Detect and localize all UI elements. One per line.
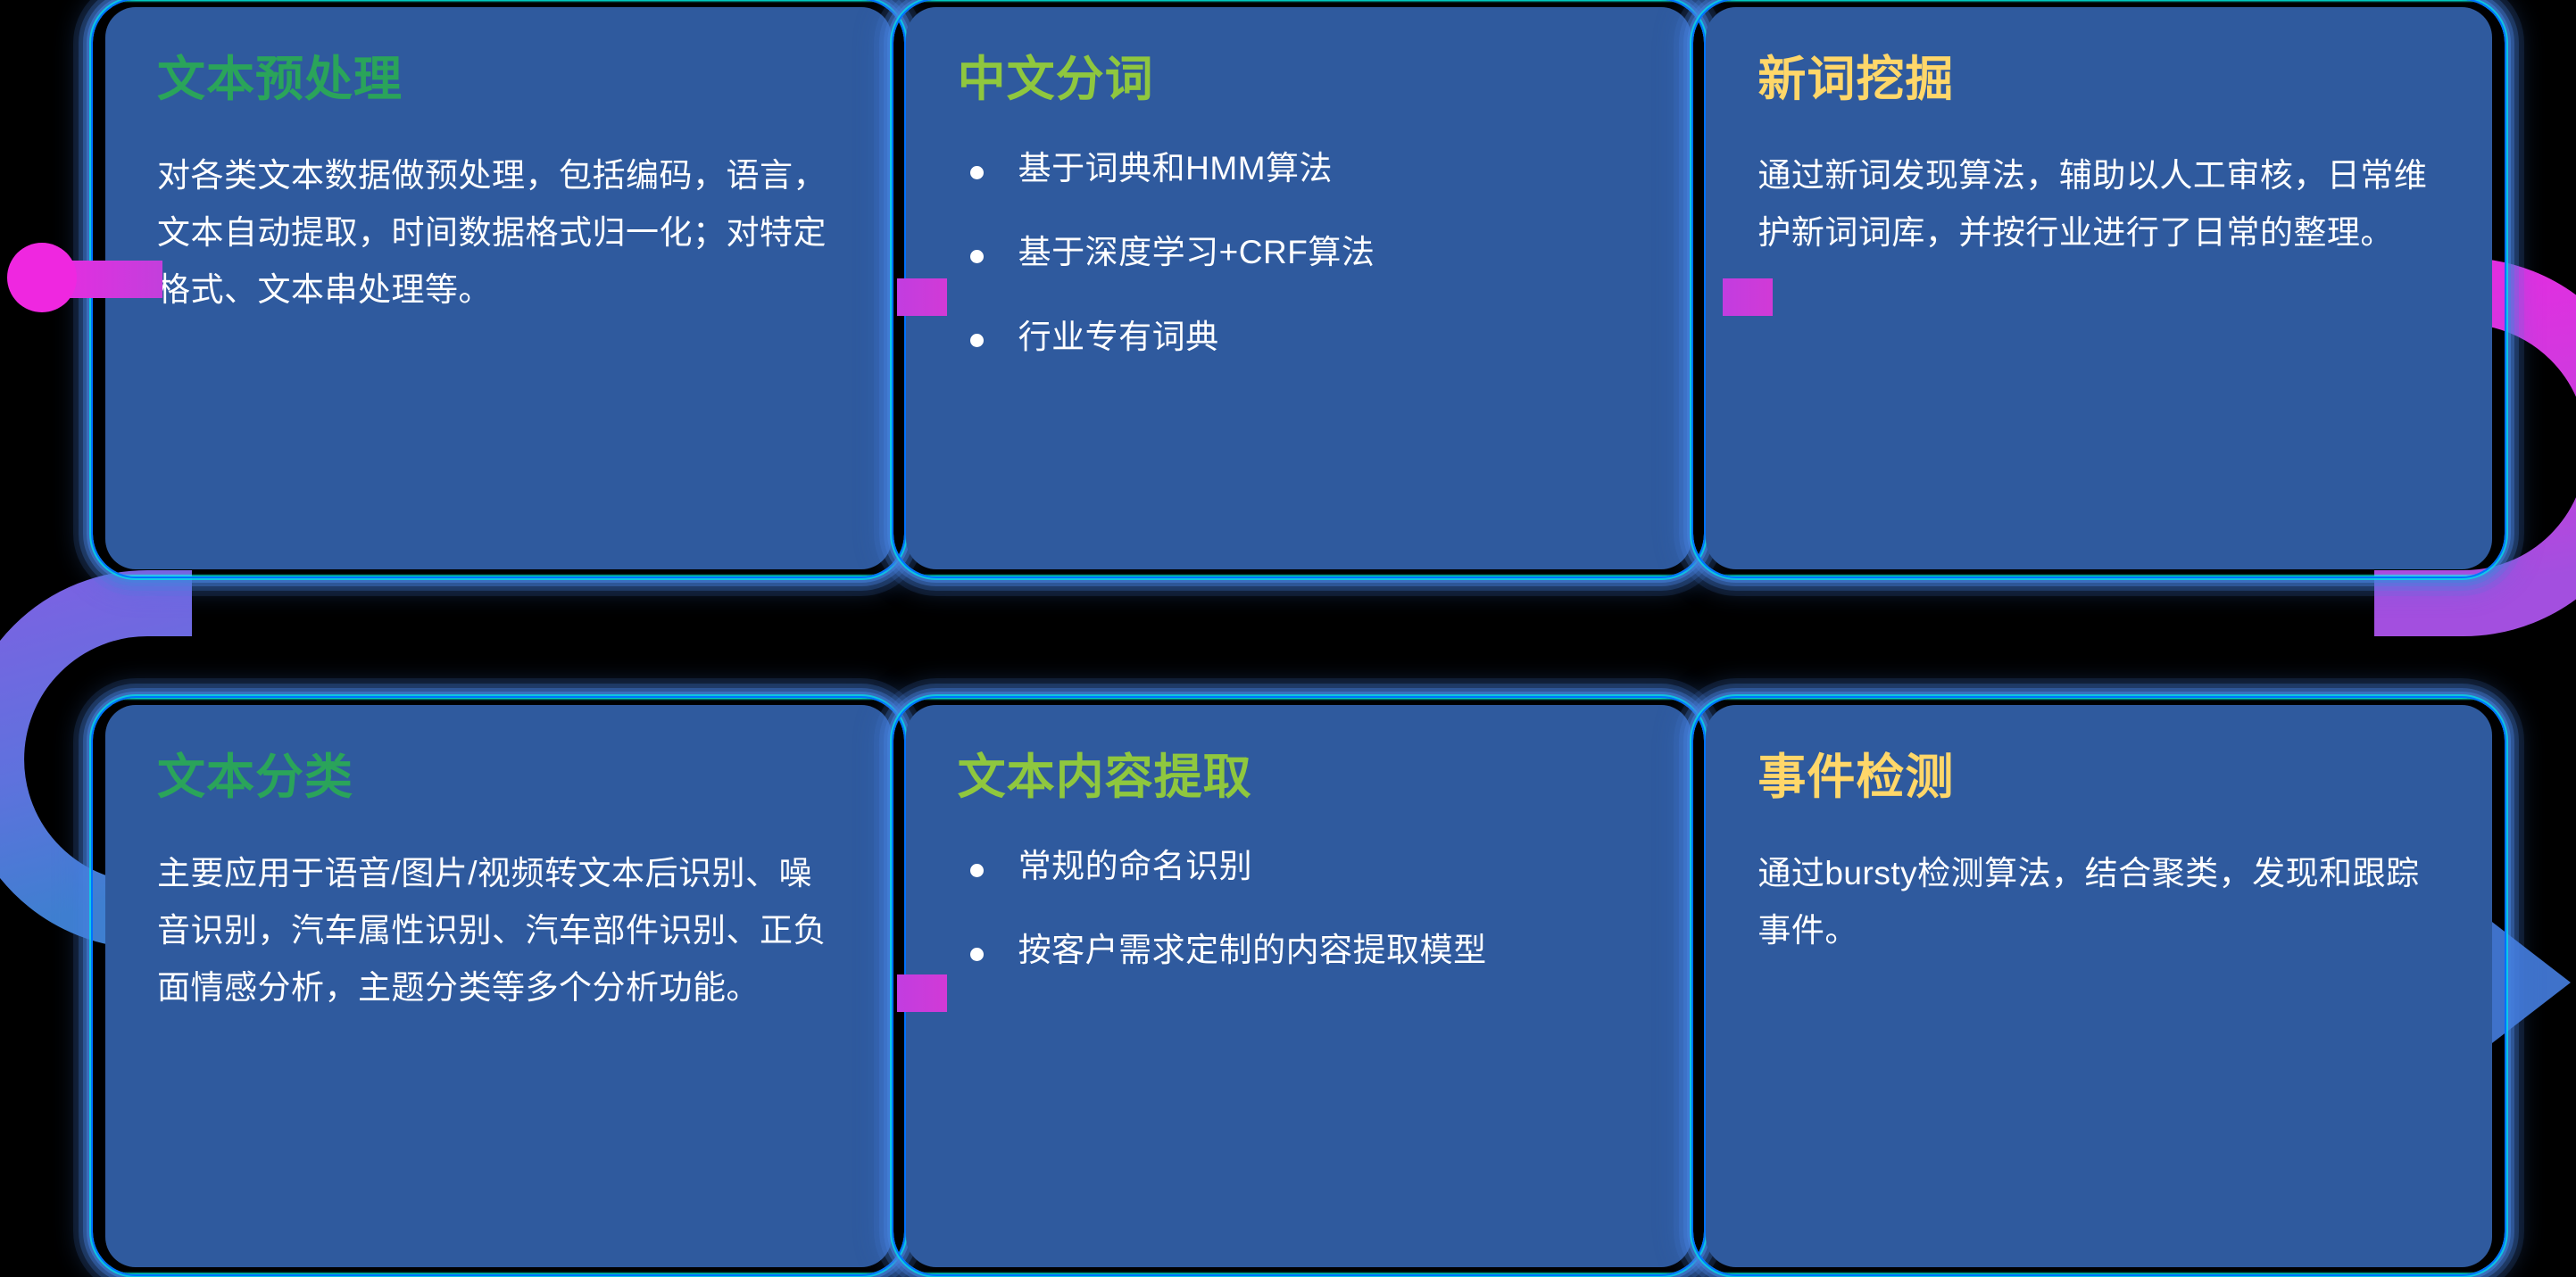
start-stub [64, 261, 162, 298]
card-title: 文本分类 [157, 751, 840, 804]
card-title: 中文分词 [958, 54, 1641, 106]
list-item: 基于词典和HMM算法 [958, 147, 1641, 190]
card-text-preprocessing[interactable]: 文本预处理 对各类文本数据做预处理，包括编码，语言，文本自动提取，时间数据格式归… [105, 7, 892, 569]
bullet-dot-icon [970, 948, 984, 961]
bottom-row: 文本分类 主要应用于语音/图片/视频转文本后识别、噪音识别，汽车属性识别、汽车部… [98, 705, 2499, 1267]
card-event-detection[interactable]: 事件检测 通过bursty检测算法，结合聚类，发现和跟踪事件。 [1706, 705, 2492, 1267]
list-item-label: 行业专有词典 [1018, 319, 1219, 355]
start-dot [7, 243, 77, 312]
diagram-canvas: 文本预处理 对各类文本数据做预处理，包括编码，语言，文本自动提取，时间数据格式归… [0, 0, 2576, 1277]
connector-chip-1 [897, 278, 947, 316]
card-title: 文本预处理 [157, 54, 840, 106]
card-chinese-word-segmentation[interactable]: 中文分词 基于词典和HMM算法 基于深度学习+CRF算法 行业专有词典 [906, 7, 1692, 569]
card-text-classification[interactable]: 文本分类 主要应用于语音/图片/视频转文本后识别、噪音识别，汽车属性识别、汽车部… [105, 705, 892, 1267]
card-title: 文本内容提取 [958, 751, 1641, 804]
card-paragraph: 通过bursty检测算法，结合聚类，发现和跟踪事件。 [1757, 845, 2440, 958]
card-new-word-discovery[interactable]: 新词挖掘 通过新词发现算法，辅助以人工审核，日常维护新词词库，并按行业进行了日常… [1706, 7, 2492, 569]
card-surface: 事件检测 通过bursty检测算法，结合聚类，发现和跟踪事件。 [1706, 705, 2492, 1267]
card-paragraph: 通过新词发现算法，辅助以人工审核，日常维护新词词库，并按行业进行了日常的整理。 [1757, 147, 2440, 261]
card-title: 事件检测 [1757, 751, 2440, 804]
list-item-label: 常规的命名识别 [1018, 848, 1253, 884]
list-item: 常规的命名识别 [958, 845, 1641, 888]
card-surface: 新词挖掘 通过新词发现算法，辅助以人工审核，日常维护新词词库，并按行业进行了日常… [1706, 7, 2492, 569]
card-surface: 文本预处理 对各类文本数据做预处理，包括编码，语言，文本自动提取，时间数据格式归… [105, 7, 892, 569]
card-title: 新词挖掘 [1757, 54, 2440, 106]
bullet-dot-icon [970, 334, 984, 347]
list-item-label: 按客户需求定制的内容提取模型 [1018, 932, 1487, 968]
list-item-label: 基于词典和HMM算法 [1018, 150, 1333, 187]
card-bullet-list: 基于词典和HMM算法 基于深度学习+CRF算法 行业专有词典 [958, 147, 1641, 358]
list-item-label: 基于深度学习+CRF算法 [1018, 234, 1375, 270]
card-text-content-extraction[interactable]: 文本内容提取 常规的命名识别 按客户需求定制的内容提取模型 [906, 705, 1692, 1267]
card-paragraph: 对各类文本数据做预处理，包括编码，语言，文本自动提取，时间数据格式归一化；对特定… [157, 147, 840, 318]
card-bullet-list: 常规的命名识别 按客户需求定制的内容提取模型 [958, 845, 1641, 972]
bullet-dot-icon [970, 166, 984, 179]
card-paragraph: 主要应用于语音/图片/视频转文本后识别、噪音识别，汽车属性识别、汽车部件识别、正… [157, 845, 840, 1016]
card-surface: 中文分词 基于词典和HMM算法 基于深度学习+CRF算法 行业专有词典 [906, 7, 1692, 569]
top-row: 文本预处理 对各类文本数据做预处理，包括编码，语言，文本自动提取，时间数据格式归… [98, 7, 2499, 569]
list-item: 按客户需求定制的内容提取模型 [958, 929, 1641, 972]
bullet-dot-icon [970, 250, 984, 263]
connector-chip-2 [1723, 278, 1773, 316]
list-item: 基于深度学习+CRF算法 [958, 231, 1641, 274]
card-surface: 文本分类 主要应用于语音/图片/视频转文本后识别、噪音识别，汽车属性识别、汽车部… [105, 705, 892, 1267]
card-surface: 文本内容提取 常规的命名识别 按客户需求定制的内容提取模型 [906, 705, 1692, 1267]
list-item: 行业专有词典 [958, 316, 1641, 359]
connector-chip-3 [897, 974, 947, 1012]
bullet-dot-icon [970, 864, 984, 877]
